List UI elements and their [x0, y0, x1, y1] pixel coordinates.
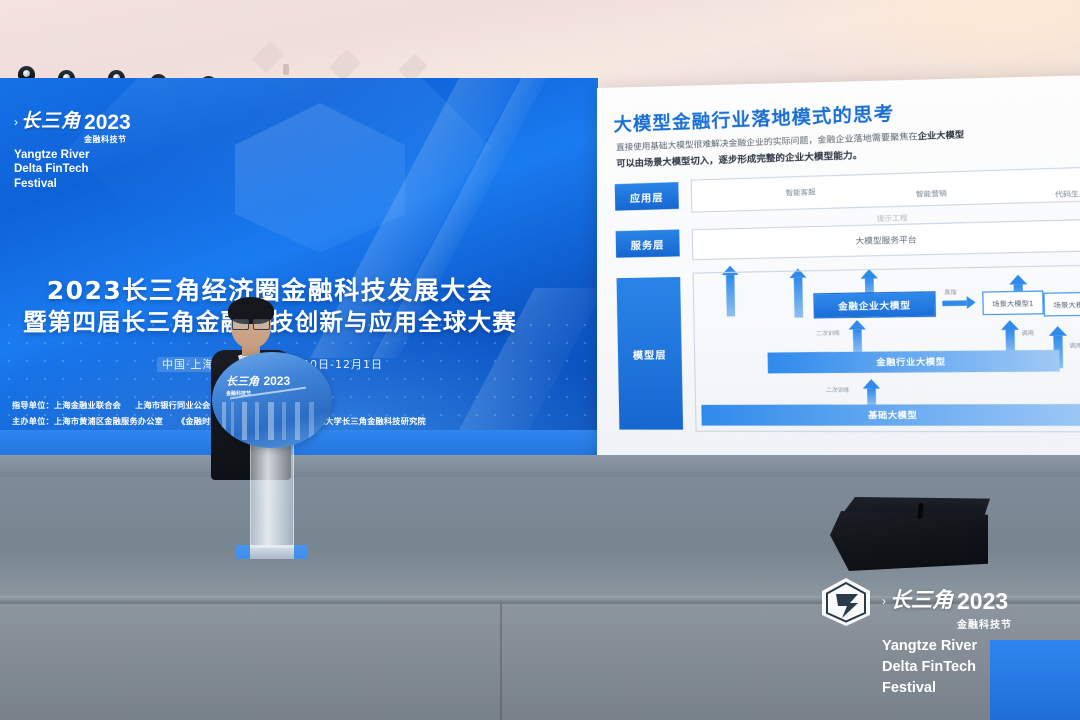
- scene-model-2: 场景大模型2: [1043, 292, 1080, 317]
- up-arrow-head-icon: [1001, 320, 1019, 330]
- slide-subtitle-line1-bold: 企业大模型: [918, 129, 965, 141]
- podium-festival-logo: 长三角 2023 金融科技节: [226, 372, 290, 397]
- watermark-en-line2: Delta FinTech: [882, 657, 1012, 678]
- podium-logo-cn: 长三角: [226, 375, 259, 388]
- model-enterprise: 金融企业大模型: [813, 291, 936, 318]
- podium: 长三角 2023 金融科技节: [212, 352, 332, 570]
- logo-subtitle-cn: 金融科技节: [84, 135, 131, 145]
- smoke-detector: [283, 64, 289, 75]
- watermark-cn: 长三角: [890, 590, 953, 611]
- logo-english-line3: Festival: [14, 177, 154, 192]
- podium-logo-sub: 金融科技节: [226, 390, 290, 397]
- right-arrow-head-icon: [967, 296, 976, 309]
- podium-base-accent-left: [236, 545, 250, 559]
- service-item-0: 大模型服务平台: [855, 234, 916, 247]
- arrow-label-secondary-training-2: 二次训练: [826, 386, 850, 395]
- floor-seam: [500, 604, 502, 720]
- projection-screen: 大模型金融行业落地模式的思考 直接使用基础大模型很难解决金融企业的实际问题，金融…: [597, 75, 1080, 482]
- watermark-sub-cn: 金融科技节: [957, 616, 1012, 631]
- app-item-1: 智能营销: [916, 188, 947, 200]
- up-arrow-shaft: [853, 329, 862, 352]
- up-arrow-head-icon: [863, 379, 881, 389]
- podium-logo-panel: 长三角 2023 金融科技节: [212, 352, 332, 448]
- sponsor-label: 主办单位：: [12, 416, 54, 426]
- glasses-icon: [232, 319, 270, 328]
- logo-english-line2: Delta FinTech: [14, 162, 154, 177]
- logo-year: 2023: [84, 111, 131, 134]
- logo-arrow-icon: ›: [14, 112, 18, 132]
- service-layer-note: 提示工程: [877, 213, 908, 224]
- watermark-text: › 长三角 2023 金融科技节 Yangtze River Delta Fin…: [882, 590, 1012, 699]
- model-industry: 金融行业大模型: [768, 350, 1060, 373]
- watermark-en-line1: Yangtze River: [882, 636, 1012, 657]
- app-item-2: 代码生成: [1055, 189, 1080, 201]
- up-arrow-shaft: [867, 389, 876, 406]
- right-arrow-shaft: [942, 300, 967, 306]
- arrow-label-call-2: 调用: [1069, 341, 1080, 350]
- monitor-front-panel: [830, 511, 988, 571]
- app-item-0: 智能客服: [786, 187, 816, 198]
- layer-tag-service: 服务层: [616, 230, 680, 258]
- presentation-slide: 大模型金融行业落地模式的思考 直接使用基础大模型很难解决金融企业的实际问题，金融…: [589, 66, 1080, 481]
- model-foundation: 基础大模型: [701, 404, 1080, 426]
- arrow-label-secondary-training: 二次训练: [816, 329, 840, 338]
- application-layer-lane: [691, 166, 1080, 212]
- logo-english-line1: Yangtze River: [14, 148, 154, 163]
- podium-base-accent-right: [294, 545, 308, 559]
- stage-front-edge: [0, 455, 1080, 477]
- sponsor-org: 上海市银行同业公会: [135, 400, 211, 410]
- stage-monitor-speaker: [830, 497, 995, 577]
- watermark-arrow-icon: ›: [882, 590, 886, 612]
- sponsor-org: 上海市黄浦区金融服务办公室: [54, 416, 163, 426]
- layer-tag-application: 应用层: [615, 182, 679, 211]
- up-arrow-head-icon: [848, 320, 866, 330]
- up-arrow-head-icon: [1049, 326, 1067, 336]
- sponsor-org: 上海金融业联合会: [54, 400, 121, 410]
- layer-tag-model: 模型层: [617, 277, 684, 430]
- arrow-label-call: 调用: [1021, 329, 1034, 338]
- festival-mark-icon: [820, 576, 872, 628]
- sponsor-label: 指导单位：: [12, 400, 54, 410]
- scene-model-1: 场景大模型1: [982, 291, 1044, 316]
- conference-stage-photo: › 长三角 2023 金融科技节 Yangtze River Delta Fin…: [0, 0, 1080, 720]
- arrow-label-distill: 蒸馏: [944, 288, 956, 297]
- podium-stem: [250, 440, 294, 548]
- watermark-year: 2023: [957, 588, 1008, 614]
- podium-logo-year: 2023: [263, 374, 290, 388]
- backdrop-festival-logo: › 长三角 2023 金融科技节 Yangtze River Delta Fin…: [14, 112, 154, 192]
- watermark-overlay: › 长三角 2023 金融科技节 Yangtze River Delta Fin…: [820, 576, 1070, 706]
- logo-chinese-name: 长三角: [21, 112, 81, 131]
- watermark-en-line3: Festival: [882, 678, 1012, 699]
